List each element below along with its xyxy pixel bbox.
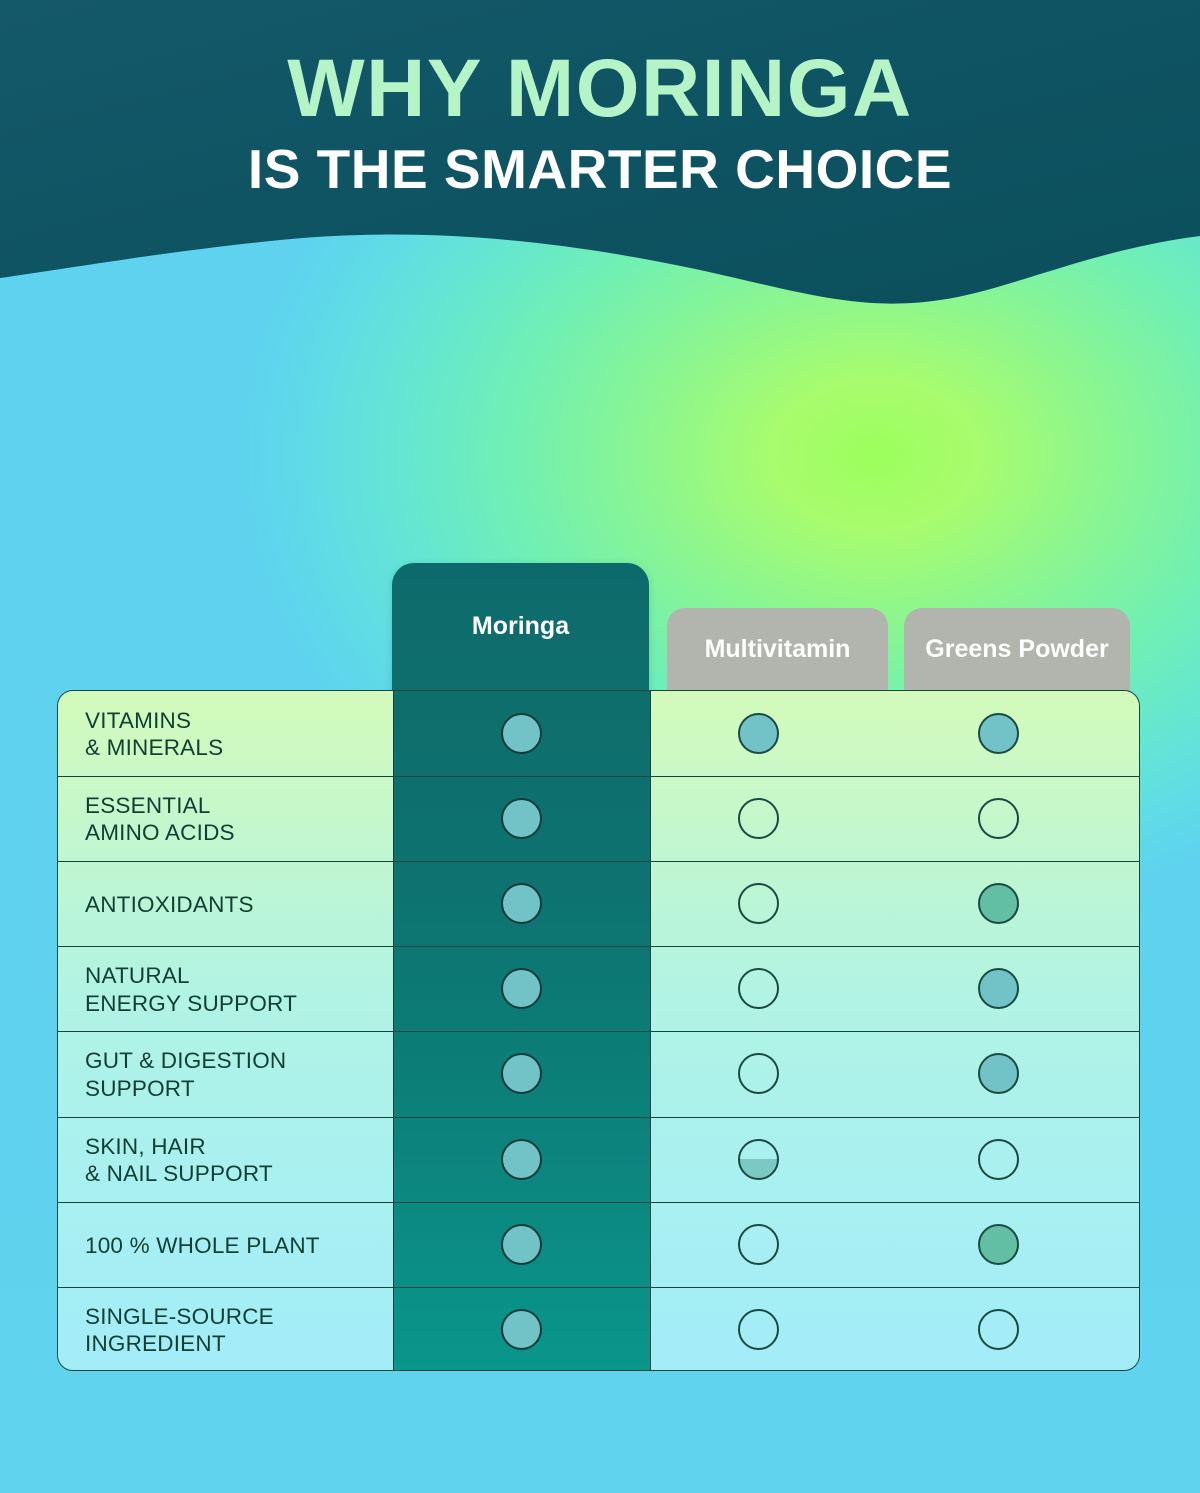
marker-greens-powder: [978, 883, 1019, 924]
column-header-greens-powder-label: Greens Powder: [925, 635, 1108, 664]
row-separator: [58, 1287, 1140, 1288]
column-header-moringa[interactable]: Moringa: [392, 563, 649, 696]
row-separator: [58, 776, 1140, 777]
marker-greens-powder: [978, 1309, 1019, 1350]
marker-moringa: [501, 1224, 542, 1265]
marker-greens-powder: [978, 1224, 1019, 1265]
comparison-table: VITAMINS & MINERALSESSENTIAL AMINO ACIDS…: [57, 690, 1140, 1371]
row-separator: [58, 861, 1140, 862]
marker-moringa: [501, 968, 542, 1009]
marker-greens-powder: [978, 968, 1019, 1009]
marker-multivitamin: [738, 1224, 779, 1265]
row-label: VITAMINS & MINERALS: [85, 707, 385, 761]
marker-greens-powder: [978, 1053, 1019, 1094]
marker-multivitamin: [738, 798, 779, 839]
row-separator: [58, 946, 1140, 947]
row-label: GUT & DIGESTION SUPPORT: [85, 1047, 385, 1101]
marker-multivitamin: [738, 883, 779, 924]
marker-moringa: [501, 1139, 542, 1180]
table-row: SKIN, HAIR & NAIL SUPPORT: [58, 1117, 1140, 1202]
marker-moringa: [501, 798, 542, 839]
row-label: SINGLE-SOURCE INGREDIENT: [85, 1303, 385, 1357]
marker-moringa: [501, 713, 542, 754]
column-header-multivitamin[interactable]: Multivitamin: [667, 608, 888, 694]
table-row: ANTIOXIDANTS: [58, 861, 1140, 946]
table-row: NATURAL ENERGY SUPPORT: [58, 946, 1140, 1031]
column-header-multivitamin-label: Multivitamin: [705, 635, 851, 664]
row-separator: [58, 1117, 1140, 1118]
header-text-block: WHY MORINGA IS THE SMARTER CHOICE: [0, 0, 1200, 197]
column-header-moringa-label: Moringa: [472, 612, 569, 641]
row-separator: [58, 1031, 1140, 1032]
marker-moringa: [501, 1309, 542, 1350]
table-row: VITAMINS & MINERALS: [58, 691, 1140, 776]
marker-greens-powder: [978, 713, 1019, 754]
header-banner: WHY MORINGA IS THE SMARTER CHOICE: [0, 0, 1200, 340]
column-header-greens-powder[interactable]: Greens Powder: [904, 608, 1130, 694]
table-row: 100 % WHOLE PLANT: [58, 1202, 1140, 1287]
marker-multivitamin: [738, 1139, 779, 1180]
marker-multivitamin: [738, 1309, 779, 1350]
row-label: NATURAL ENERGY SUPPORT: [85, 962, 385, 1016]
page-title: WHY MORINGA: [0, 50, 1200, 128]
marker-moringa: [501, 1053, 542, 1094]
row-label: SKIN, HAIR & NAIL SUPPORT: [85, 1133, 385, 1187]
marker-greens-powder: [978, 1139, 1019, 1180]
marker-greens-powder: [978, 798, 1019, 839]
table-row: SINGLE-SOURCE INGREDIENT: [58, 1287, 1140, 1371]
row-label: ANTIOXIDANTS: [85, 891, 385, 918]
table-row: ESSENTIAL AMINO ACIDS: [58, 776, 1140, 861]
marker-multivitamin: [738, 968, 779, 1009]
page-subtitle: IS THE SMARTER CHOICE: [0, 142, 1200, 197]
marker-multivitamin: [738, 713, 779, 754]
row-separator: [58, 1202, 1140, 1203]
row-label: ESSENTIAL AMINO ACIDS: [85, 792, 385, 846]
marker-multivitamin: [738, 1053, 779, 1094]
table-row: GUT & DIGESTION SUPPORT: [58, 1031, 1140, 1116]
marker-moringa: [501, 883, 542, 924]
row-label: 100 % WHOLE PLANT: [85, 1232, 385, 1259]
